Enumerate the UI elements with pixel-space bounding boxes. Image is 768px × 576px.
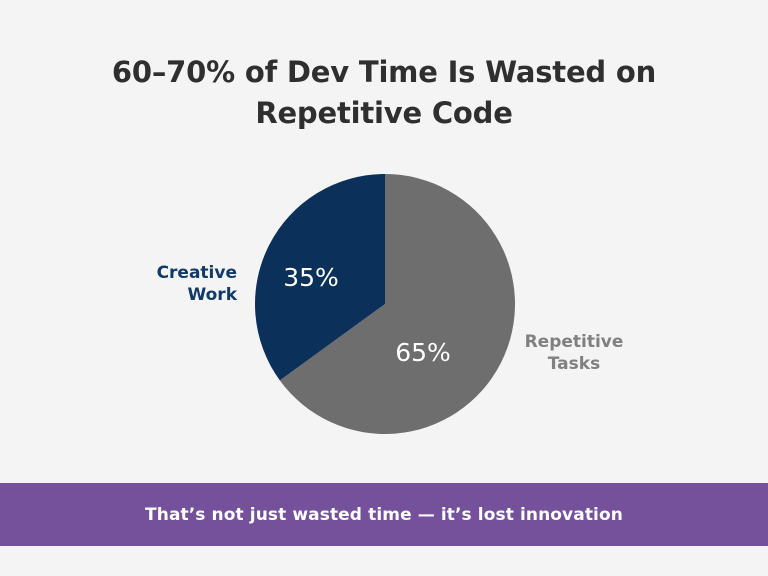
pie-label-repetitive-tasks-line-1: Repetitive (522, 331, 626, 353)
pie-chart: 35% 65% (0, 150, 768, 470)
pie-label-repetitive-tasks-line-2: Tasks (522, 353, 626, 375)
pie-value-creative-work: 35% (283, 263, 339, 292)
page-title-line-2: Repetitive Code (64, 93, 704, 134)
footer-banner: That’s not just wasted time — it’s lost … (0, 483, 768, 546)
page-title-line-1: 60–70% of Dev Time Is Wasted on (64, 52, 704, 93)
pie-label-creative-work-line-2: Work (157, 284, 237, 306)
pie-label-creative-work-line-1: Creative (157, 262, 237, 284)
pie-label-repetitive-tasks: Repetitive Tasks (522, 331, 626, 375)
footer-banner-text: That’s not just wasted time — it’s lost … (145, 505, 623, 525)
pie-label-creative-work: Creative Work (157, 262, 237, 306)
pie-value-repetitive-tasks: 65% (395, 338, 451, 367)
slide-canvas: 60–70% of Dev Time Is Wasted on Repetiti… (0, 0, 768, 576)
page-title: 60–70% of Dev Time Is Wasted on Repetiti… (64, 52, 704, 134)
pie-chart-svg: 35% 65% (0, 150, 768, 470)
